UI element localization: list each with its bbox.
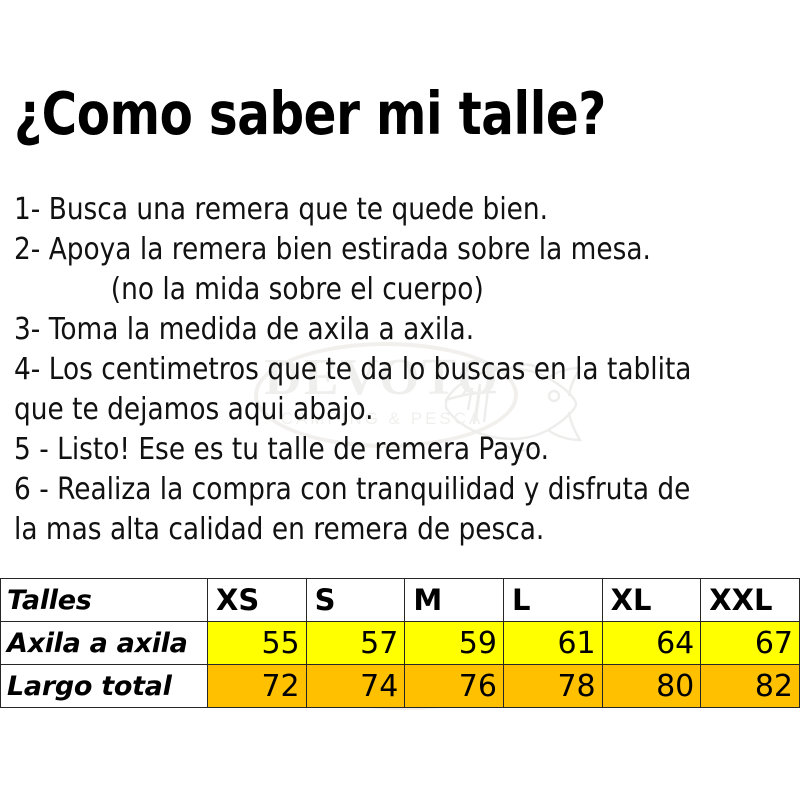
instruction-line-cont: que te dejamos aqui abajo. (14, 390, 700, 430)
instruction-line-note: (no la mida sobre el cuerpo) (14, 270, 700, 310)
cell-chest-xs: 55 (208, 622, 307, 665)
cell-length-l: 78 (503, 665, 602, 708)
cell-chest-s: 57 (306, 622, 405, 665)
cell-chest-xxl: 67 (701, 622, 800, 665)
instruction-line: 2- Apoya la remera bien estirada sobre l… (14, 230, 700, 270)
instruction-line-cont: la mas alta calidad en remera de pesca. (14, 510, 700, 550)
instruction-line: 4- Los centimetros que te da lo buscas e… (14, 350, 700, 390)
header-size-xxl: XXL (701, 579, 800, 622)
header-size-m: M (405, 579, 504, 622)
cell-chest-m: 59 (405, 622, 504, 665)
cell-chest-xl: 64 (602, 622, 701, 665)
instruction-list: 1- Busca una remera que te quede bien. 2… (14, 190, 794, 550)
header-size-l: L (503, 579, 602, 622)
size-chart-table: Talles XS S M L XL XXL Axila a axila 55 … (0, 578, 800, 708)
header-size-xl: XL (602, 579, 701, 622)
row-label-largo: Largo total (1, 665, 208, 708)
header-label-talles: Talles (1, 579, 208, 622)
cell-length-xl: 80 (602, 665, 701, 708)
header-size-xs: XS (208, 579, 307, 622)
cell-length-s: 74 (306, 665, 405, 708)
table-row-chest: Axila a axila 55 57 59 61 64 67 (1, 622, 800, 665)
table-row-header: Talles XS S M L XL XXL (1, 579, 800, 622)
size-guide-page: DEVOTO CAMPING & PESCA DEVOTO CAMPING & … (0, 0, 800, 800)
cell-length-xxl: 82 (701, 665, 800, 708)
cell-chest-l: 61 (503, 622, 602, 665)
instruction-line: 5 - Listo! Ese es tu talle de remera Pay… (14, 430, 700, 470)
page-title: ¿Como saber mi talle? (14, 84, 606, 143)
cell-length-xs: 72 (208, 665, 307, 708)
instruction-line: 6 - Realiza la compra con tranquilidad y… (14, 470, 700, 510)
instruction-line: 1- Busca una remera que te quede bien. (14, 190, 700, 230)
header-size-s: S (306, 579, 405, 622)
cell-length-m: 76 (405, 665, 504, 708)
table-row-length: Largo total 72 74 76 78 80 82 (1, 665, 800, 708)
row-label-axila: Axila a axila (1, 622, 208, 665)
instruction-line: 3- Toma la medida de axila a axila. (14, 310, 700, 350)
